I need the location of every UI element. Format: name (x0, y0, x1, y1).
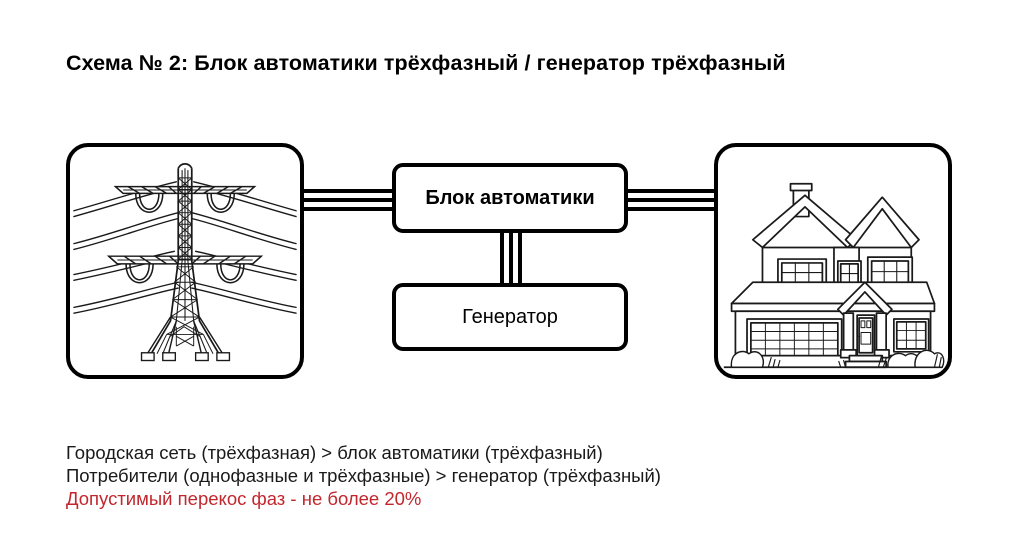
bus-grid-to-automation (300, 189, 396, 211)
house-icon (718, 147, 948, 375)
phase-line-l1 (624, 189, 720, 193)
panel-consumers (714, 143, 952, 379)
automation-block[interactable]: Блок автоматики (392, 163, 628, 233)
power-transmission-tower-icon (70, 147, 300, 375)
phase-line-l2 (624, 198, 720, 202)
phase-line-l1 (300, 189, 396, 193)
caption-line-grid: Городская сеть (трёхфазная) > блок автом… (66, 441, 926, 464)
phase-line-l2 (509, 229, 513, 287)
caption-line-consumers: Потребители (однофазные и трёхфазные) > … (66, 464, 926, 487)
bus-automation-to-house (624, 189, 720, 211)
phase-line-l3 (624, 207, 720, 211)
generator-block[interactable]: Генератор (392, 283, 628, 351)
phase-line-l1 (500, 229, 504, 287)
phase-line-l3 (518, 229, 522, 287)
caption-block: Городская сеть (трёхфазная) > блок автом… (66, 441, 926, 510)
generator-block-label: Генератор (462, 306, 558, 329)
page-title: Схема № 2: Блок автоматики трёхфазный / … (66, 51, 786, 76)
bus-automation-to-generator (500, 229, 522, 287)
diagram-page: Схема № 2: Блок автоматики трёхфазный / … (0, 0, 1024, 537)
phase-line-l2 (300, 198, 396, 202)
automation-block-label: Блок автоматики (425, 187, 594, 210)
phase-line-l3 (300, 207, 396, 211)
panel-city-grid (66, 143, 304, 379)
caption-line-warning: Допустимый перекос фаз - не более 20% (66, 487, 926, 510)
